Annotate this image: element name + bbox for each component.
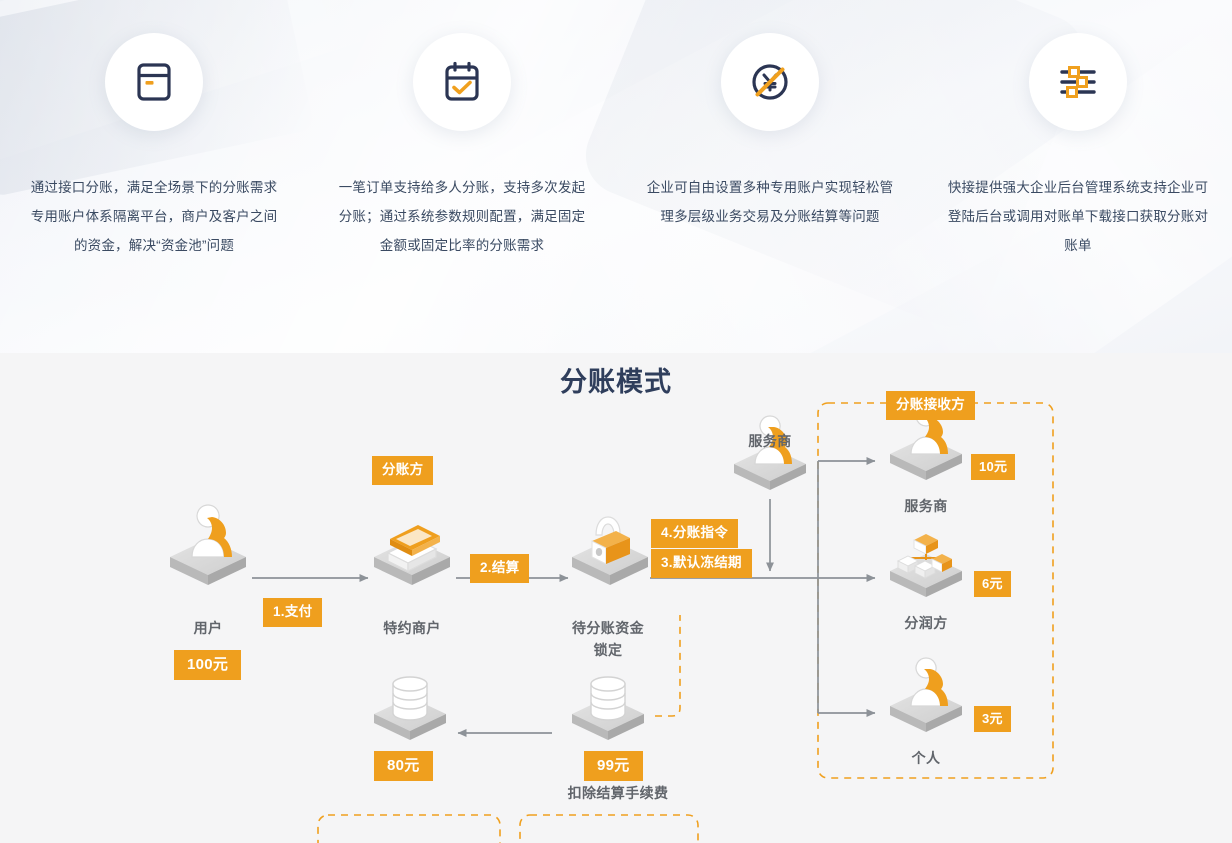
feature-card-1: 通过接口分账，满足全场景下的分账需求专用账户体系隔离平台，商户及客户之间的资金，…: [0, 0, 308, 353]
step-label-3: 3.默认冻结期: [651, 549, 752, 578]
icon-locked-pool-3d: [572, 677, 644, 740]
diagram-section: 分账模式: [0, 353, 1232, 843]
feature-icon-circle-1: [105, 33, 203, 131]
feature-card-2: 一笔订单支持给多人分账，支持多次发起分账；通过系统参数规则配置，满足固定金额或固…: [308, 0, 616, 353]
calendar-check-icon: [439, 59, 485, 105]
amount-chip-merchant-pool: 80元: [374, 751, 433, 781]
node-label-fee-note: 扣除结算手续费: [528, 783, 708, 803]
feature-card-4: 快接提供强大企业后台管理系统支持企业可登陆后台或调用对账单下载接口获取分账对账单: [924, 0, 1232, 353]
group-label-payer: 分账方: [372, 456, 433, 485]
icon-receiver-profit-3d: [890, 534, 962, 597]
page-root: 通过接口分账，满足全场景下的分账需求专用账户体系隔离平台，商户及客户之间的资金，…: [0, 0, 1232, 843]
node-label-receiver-profit: 分润方: [888, 613, 964, 633]
account-card-icon: [131, 59, 177, 105]
icon-service-provider-3d: [734, 416, 806, 490]
amount-chip-user: 100元: [174, 650, 241, 680]
features-section: 通过接口分账，满足全场景下的分账需求专用账户体系隔离平台，商户及客户之间的资金，…: [0, 0, 1232, 353]
feature-icon-circle-4: [1029, 33, 1127, 131]
diagram-canvas: 分账方 分账接收方 1.支付 2.结算 4.分账指令 3.默认冻结期 用户 特约…: [0, 353, 1232, 843]
feature-text-2: 一笔订单支持给多人分账，支持多次发起分账；通过系统参数规则配置，满足固定金额或固…: [335, 173, 590, 260]
group-box-payer: [318, 815, 500, 843]
node-label-locked-fund-line2: 锁定: [558, 640, 658, 660]
node-label-receiver-person: 个人: [888, 748, 964, 768]
no-yuan-icon: [746, 58, 794, 106]
step-label-2: 2.结算: [470, 554, 529, 583]
step-label-1: 1.支付: [263, 598, 322, 627]
icon-merchant-3d: [374, 525, 450, 585]
node-label-user: 用户: [168, 618, 248, 638]
icon-merchant-pool-3d: [374, 677, 446, 740]
feature-text-1: 通过接口分账，满足全场景下的分账需求专用账户体系隔离平台，商户及客户之间的资金，…: [27, 173, 282, 260]
dashed-route-step3: [655, 615, 680, 716]
amount-chip-locked-pool: 99元: [584, 751, 643, 781]
group-box-locked: [520, 815, 698, 843]
feature-text-3: 企业可自由设置多种专用账户实现轻松管理多层级业务交易及分账结算等问题: [643, 173, 898, 231]
icon-lock-3d: [572, 517, 648, 585]
node-label-receiver-provider: 服务商: [888, 496, 964, 516]
feature-text-4: 快接提供强大企业后台管理系统支持企业可登陆后台或调用对账单下载接口获取分账对账单: [947, 173, 1209, 260]
feature-icon-circle-2: [413, 33, 511, 131]
feature-icon-circle-3: [721, 33, 819, 131]
feature-card-3: 企业可自由设置多种专用账户实现轻松管理多层级业务交易及分账结算等问题: [616, 0, 924, 353]
amount-chip-receiver-person: 3元: [974, 706, 1011, 732]
node-label-merchant: 特约商户: [362, 618, 462, 638]
node-label-service-provider-top: 服务商: [730, 431, 810, 451]
step-label-4: 4.分账指令: [651, 519, 738, 548]
settings-sliders-icon: [1055, 59, 1101, 105]
node-label-locked-fund-line1: 待分账资金: [558, 618, 658, 638]
features-grid: 通过接口分账，满足全场景下的分账需求专用账户体系隔离平台，商户及客户之间的资金，…: [0, 0, 1232, 353]
icon-user-3d: [170, 505, 246, 585]
icon-receiver-person-3d: [890, 658, 962, 732]
amount-chip-receiver-provider: 10元: [971, 454, 1015, 480]
amount-chip-receiver-profit: 6元: [974, 571, 1011, 597]
group-label-receiver: 分账接收方: [886, 391, 975, 420]
